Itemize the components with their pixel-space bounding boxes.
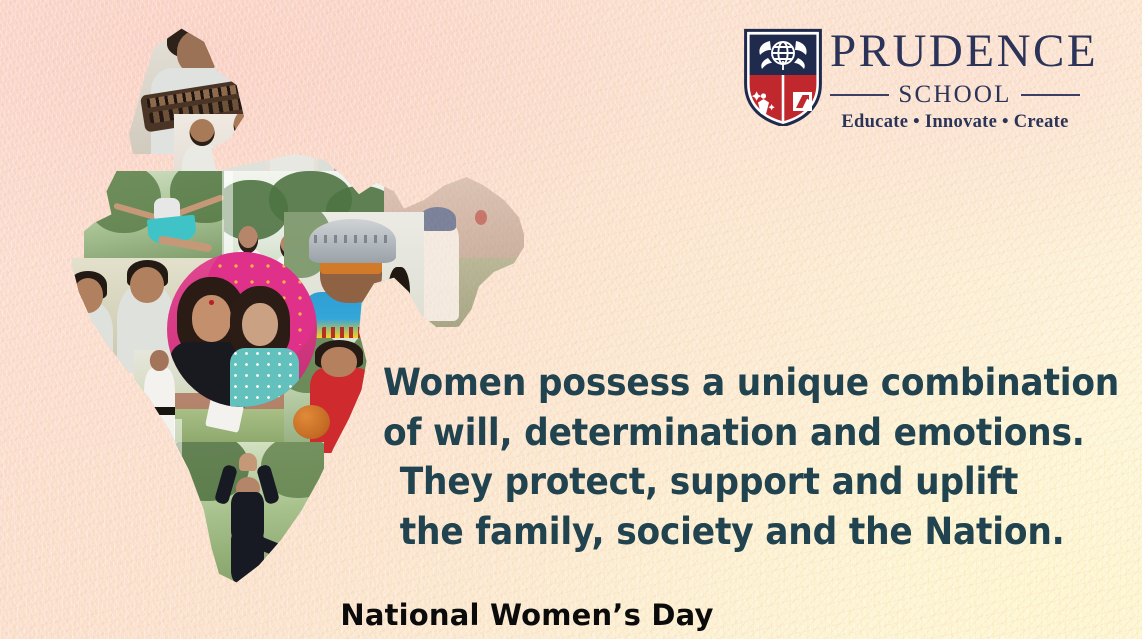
occasion-caption: National Women’s Day (0, 598, 1098, 632)
photo-mother-daughter (167, 252, 317, 407)
quote-line-2: of will, determination and emotions. (383, 408, 1053, 458)
rule-right (1021, 94, 1080, 96)
collage-frame-accent-2 (174, 419, 182, 546)
photo-yoga (174, 442, 324, 592)
prudence-school-logo: PRUDENCE SCHOOL Educate • Innovate • Cre… (744, 26, 1080, 134)
quote-line-3: They protect, support and uplift (383, 457, 1053, 507)
logo-text-block: PRUDENCE SCHOOL Educate • Innovate • Cre… (830, 26, 1080, 134)
logo-tagline: Educate • Innovate • Create (830, 112, 1080, 133)
school-row: SCHOOL (830, 81, 1080, 109)
sub-name: SCHOOL (898, 81, 1011, 109)
quote-line-1: Women possess a unique combination (383, 358, 1053, 408)
quote-line-4: the family, society and the Nation. (383, 507, 1053, 557)
rule-left (830, 94, 889, 96)
poster-canvas: PRUDENCE SCHOOL Educate • Innovate • Cre… (0, 0, 1142, 639)
photo-red-dupatta (334, 91, 444, 172)
quote-block: Women possess a unique combination of wi… (383, 358, 1103, 556)
shield-crest-icon (744, 28, 822, 126)
brand-name: PRUDENCE (830, 28, 1080, 75)
